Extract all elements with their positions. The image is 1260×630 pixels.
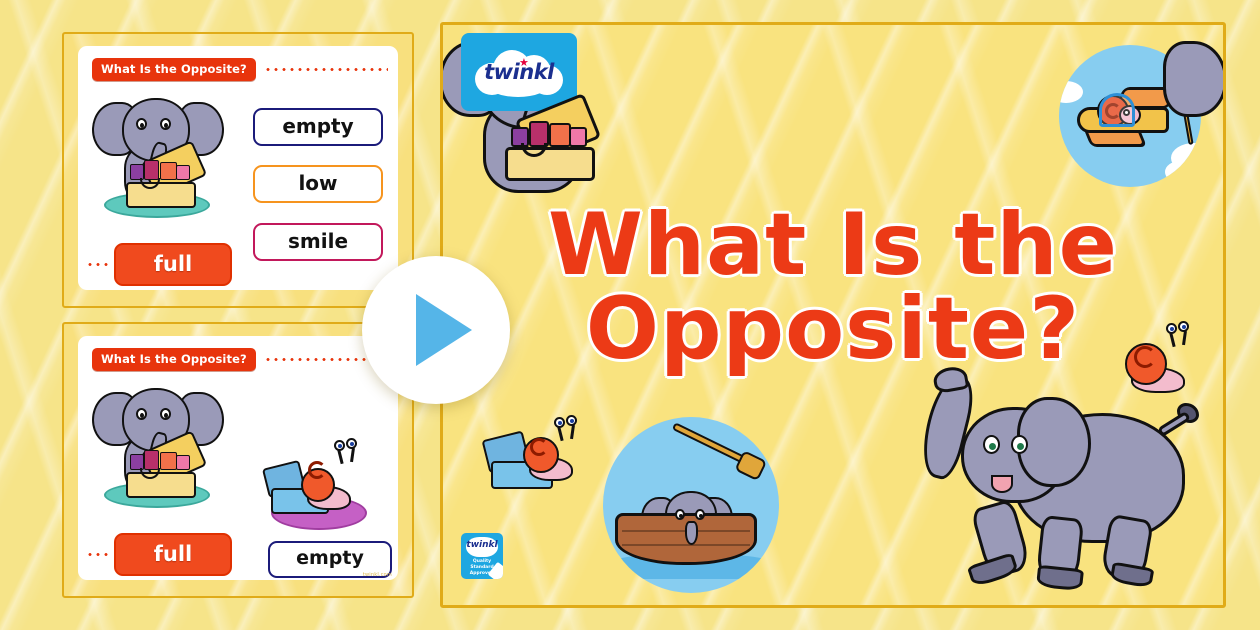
badge-line-1: Quality Standard <box>470 559 493 570</box>
answer-word-full[interactable]: full <box>114 533 232 576</box>
running-elephant-illustration <box>933 377 1201 587</box>
quality-standard-badge: twinkl Quality Standard Approved <box>461 533 503 579</box>
question-header-row-2: What Is the Opposite? <box>92 348 388 371</box>
dotted-line-left <box>86 553 108 556</box>
watermark: twinkl.com <box>363 572 392 578</box>
elephant-rowing-boat-illustration <box>603 417 779 593</box>
star-icon: ★ <box>519 56 529 69</box>
choice-option-smile[interactable]: smile <box>253 223 383 261</box>
answer-row-1: full <box>78 243 238 286</box>
elephant-with-full-suitcase-illustration <box>94 90 222 218</box>
snail-illustration <box>1125 337 1191 393</box>
answer-word-full[interactable]: full <box>114 243 232 286</box>
question-pill-1: What Is the Opposite? <box>92 58 256 81</box>
elephant-with-full-suitcase-illustration <box>94 380 222 508</box>
choice-option-empty[interactable]: empty <box>253 108 383 146</box>
twinkl-logo: twinkl ★ <box>461 33 577 111</box>
question-header-row-1: What Is the Opposite? <box>92 58 388 81</box>
badge-wordmark: twinkl <box>461 540 503 550</box>
slide-canvas-1: What Is the Opposite? <box>78 46 398 290</box>
slide-thumbnail-list: What Is the Opposite? <box>62 32 414 598</box>
play-button[interactable] <box>362 256 510 404</box>
dotted-line <box>264 68 388 71</box>
dotted-line-left <box>86 263 108 266</box>
slide-canvas-2: What Is the Opposite? <box>78 336 398 580</box>
play-triangle-icon <box>416 294 472 366</box>
slide-thumbnail-2[interactable]: What Is the Opposite? <box>62 322 414 598</box>
slide-thumbnail-1[interactable]: What Is the Opposite? <box>62 32 414 308</box>
snail-with-empty-suitcase-illustration <box>263 446 373 526</box>
choice-option-low[interactable]: low <box>253 165 383 203</box>
answer-row-2: full <box>78 533 238 576</box>
question-pill-2: What Is the Opposite? <box>92 348 256 371</box>
choice-list-1: empty low smile <box>238 88 398 280</box>
main-slide-preview[interactable]: twinkl ★ twinkl Quality Standard Approve… <box>440 22 1226 608</box>
title-line-2: Opposite? <box>443 287 1223 371</box>
slide-title: What Is the Opposite? <box>443 203 1223 372</box>
snail-with-empty-suitcase-illustration <box>485 421 581 497</box>
